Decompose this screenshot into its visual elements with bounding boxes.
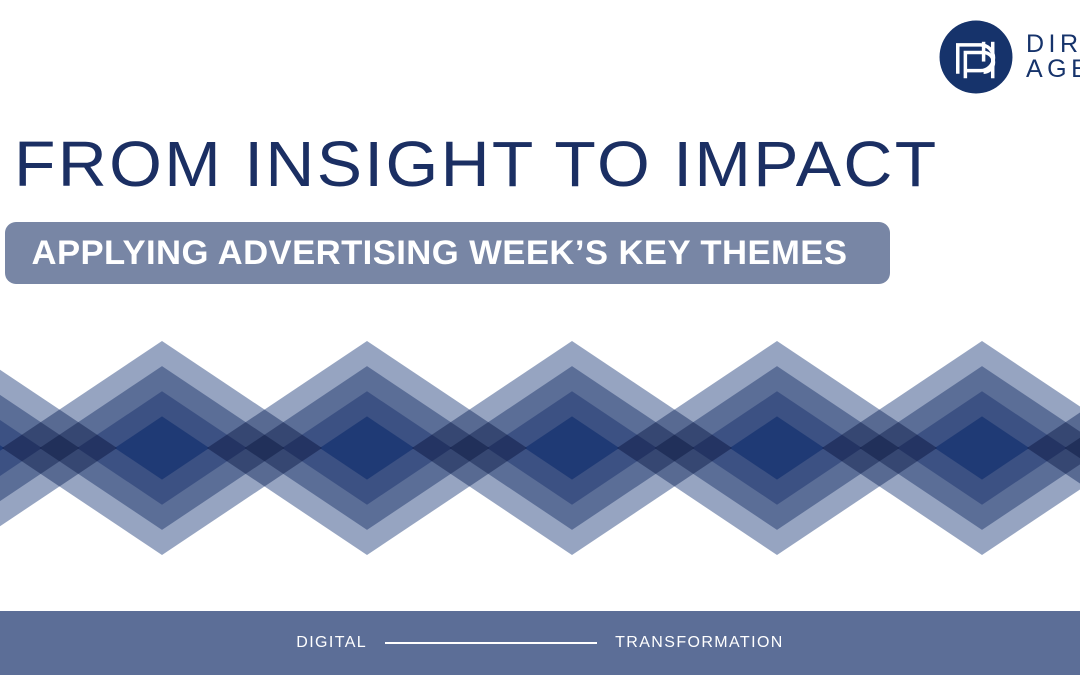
- slide-title: FROM INSIGHT TO IMPACT: [14, 126, 938, 202]
- slide-canvas: DIRECT AGENTS FROM INSIGHT TO IMPACT APP…: [0, 0, 1080, 675]
- footer-divider-rule: [385, 642, 597, 644]
- diamond-pattern-graphic: [0, 338, 1080, 562]
- diamond-cluster: [1027, 341, 1080, 555]
- brand-wordmark: DIRECT AGENTS: [1026, 32, 1080, 83]
- footer-bar: DIGITAL TRANSFORMATION: [0, 611, 1080, 675]
- diamond-pattern-band: [0, 338, 1080, 562]
- footer-content: DIGITAL TRANSFORMATION: [296, 634, 784, 652]
- footer-label-transformation: TRANSFORMATION: [615, 634, 784, 652]
- slide-subtitle-bar: APPLYING ADVERTISING WEEK’S KEY THEMES: [5, 222, 890, 284]
- direct-agents-monogram-icon: [938, 19, 1014, 95]
- diamond-ring: [1065, 366, 1080, 530]
- footer-label-digital: DIGITAL: [296, 634, 367, 652]
- slide-subtitle-text: APPLYING ADVERTISING WEEK’S KEY THEMES: [5, 234, 847, 273]
- wordmark-line-2: AGENTS: [1026, 57, 1080, 83]
- brand-logo: DIRECT AGENTS: [938, 19, 1080, 95]
- wordmark-line-1: DIRECT: [1026, 32, 1080, 58]
